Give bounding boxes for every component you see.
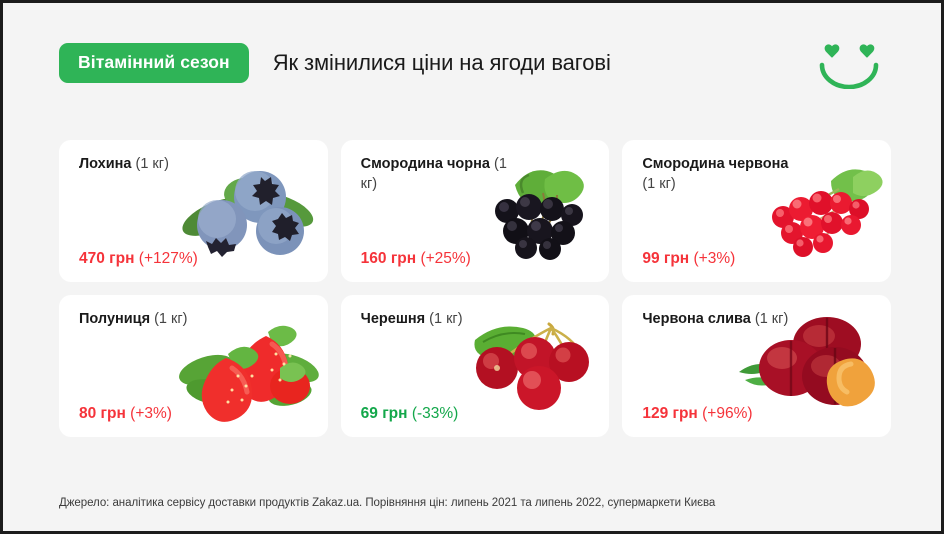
berry-card-grid: Лохина (1 кг) 470 грн (+127%) bbox=[59, 140, 891, 437]
strawberries-image bbox=[172, 310, 322, 422]
price-amount: 69 грн bbox=[361, 405, 408, 422]
price-change: (-33%) bbox=[412, 405, 459, 422]
berry-card-redplums[interactable]: Червона слива (1 кг) 129 грн (+ bbox=[622, 295, 891, 437]
price-change: (+25%) bbox=[420, 250, 470, 267]
berry-unit: (1 кг) bbox=[642, 176, 675, 192]
card-price: 129 грн (+96%) bbox=[642, 406, 752, 422]
price-change: (+3%) bbox=[130, 405, 172, 422]
berry-card-blackcurrants[interactable]: Смородина чорна (1 кг) 160 грн bbox=[341, 140, 610, 282]
berry-name: Полуниця bbox=[79, 311, 150, 327]
card-price: 160 грн (+25%) bbox=[361, 251, 471, 267]
header: Вітамінний сезон Як змінилися ціни на яг… bbox=[3, 3, 941, 123]
season-badge: Вітамінний сезон bbox=[59, 43, 249, 84]
card-title: Черешня (1 кг) bbox=[361, 310, 463, 330]
card-title: Червона слива (1 кг) bbox=[642, 310, 788, 330]
berry-card-redcurrants[interactable]: Смородина червона (1 кг) bbox=[622, 140, 891, 282]
price-change: (+3%) bbox=[693, 250, 735, 267]
berry-name: Червона слива bbox=[642, 311, 751, 327]
infographic-canvas: Вітамінний сезон Як змінилися ціни на яг… bbox=[0, 0, 944, 534]
card-title: Смородина червона (1 кг) bbox=[642, 155, 792, 194]
berry-unit: (1 кг) bbox=[755, 311, 788, 327]
berry-unit: (1 кг) bbox=[136, 156, 169, 172]
berry-card-strawberries[interactable]: Полуниця (1 кг) bbox=[59, 295, 328, 437]
price-amount: 80 грн bbox=[79, 405, 126, 422]
berry-card-cherries[interactable]: Черешня (1 кг) 69 грн (-33%) bbox=[341, 295, 610, 437]
berry-unit: (1 кг) bbox=[154, 311, 187, 327]
price-amount: 99 грн bbox=[642, 250, 689, 267]
price-amount: 470 грн bbox=[79, 250, 134, 267]
berry-name: Лохина bbox=[79, 156, 131, 172]
price-change: (+127%) bbox=[139, 250, 198, 267]
berry-name: Смородина чорна bbox=[361, 156, 490, 172]
card-title: Лохина (1 кг) bbox=[79, 155, 169, 175]
source-note: Джерело: аналітика сервісу доставки прод… bbox=[59, 497, 715, 509]
card-title: Полуниця (1 кг) bbox=[79, 310, 187, 330]
price-amount: 160 грн bbox=[361, 250, 416, 267]
card-price: 470 грн (+127%) bbox=[79, 251, 198, 267]
berry-name: Смородина червона bbox=[642, 156, 788, 172]
card-price: 99 грн (+3%) bbox=[642, 251, 735, 267]
price-change: (+96%) bbox=[702, 405, 752, 422]
berry-name: Черешня bbox=[361, 311, 425, 327]
card-price: 69 грн (-33%) bbox=[361, 406, 459, 422]
page-title: Як змінилися ціни на ягоди вагові bbox=[273, 50, 611, 76]
berry-unit: (1 кг) bbox=[429, 311, 462, 327]
cherries-image bbox=[453, 310, 603, 422]
card-price: 80 грн (+3%) bbox=[79, 406, 172, 422]
smiley-hearts-logo bbox=[813, 37, 885, 89]
berry-card-blueberries[interactable]: Лохина (1 кг) 470 грн (+127%) bbox=[59, 140, 328, 282]
card-title: Смородина чорна (1 кг) bbox=[361, 155, 511, 194]
price-amount: 129 грн bbox=[642, 405, 697, 422]
